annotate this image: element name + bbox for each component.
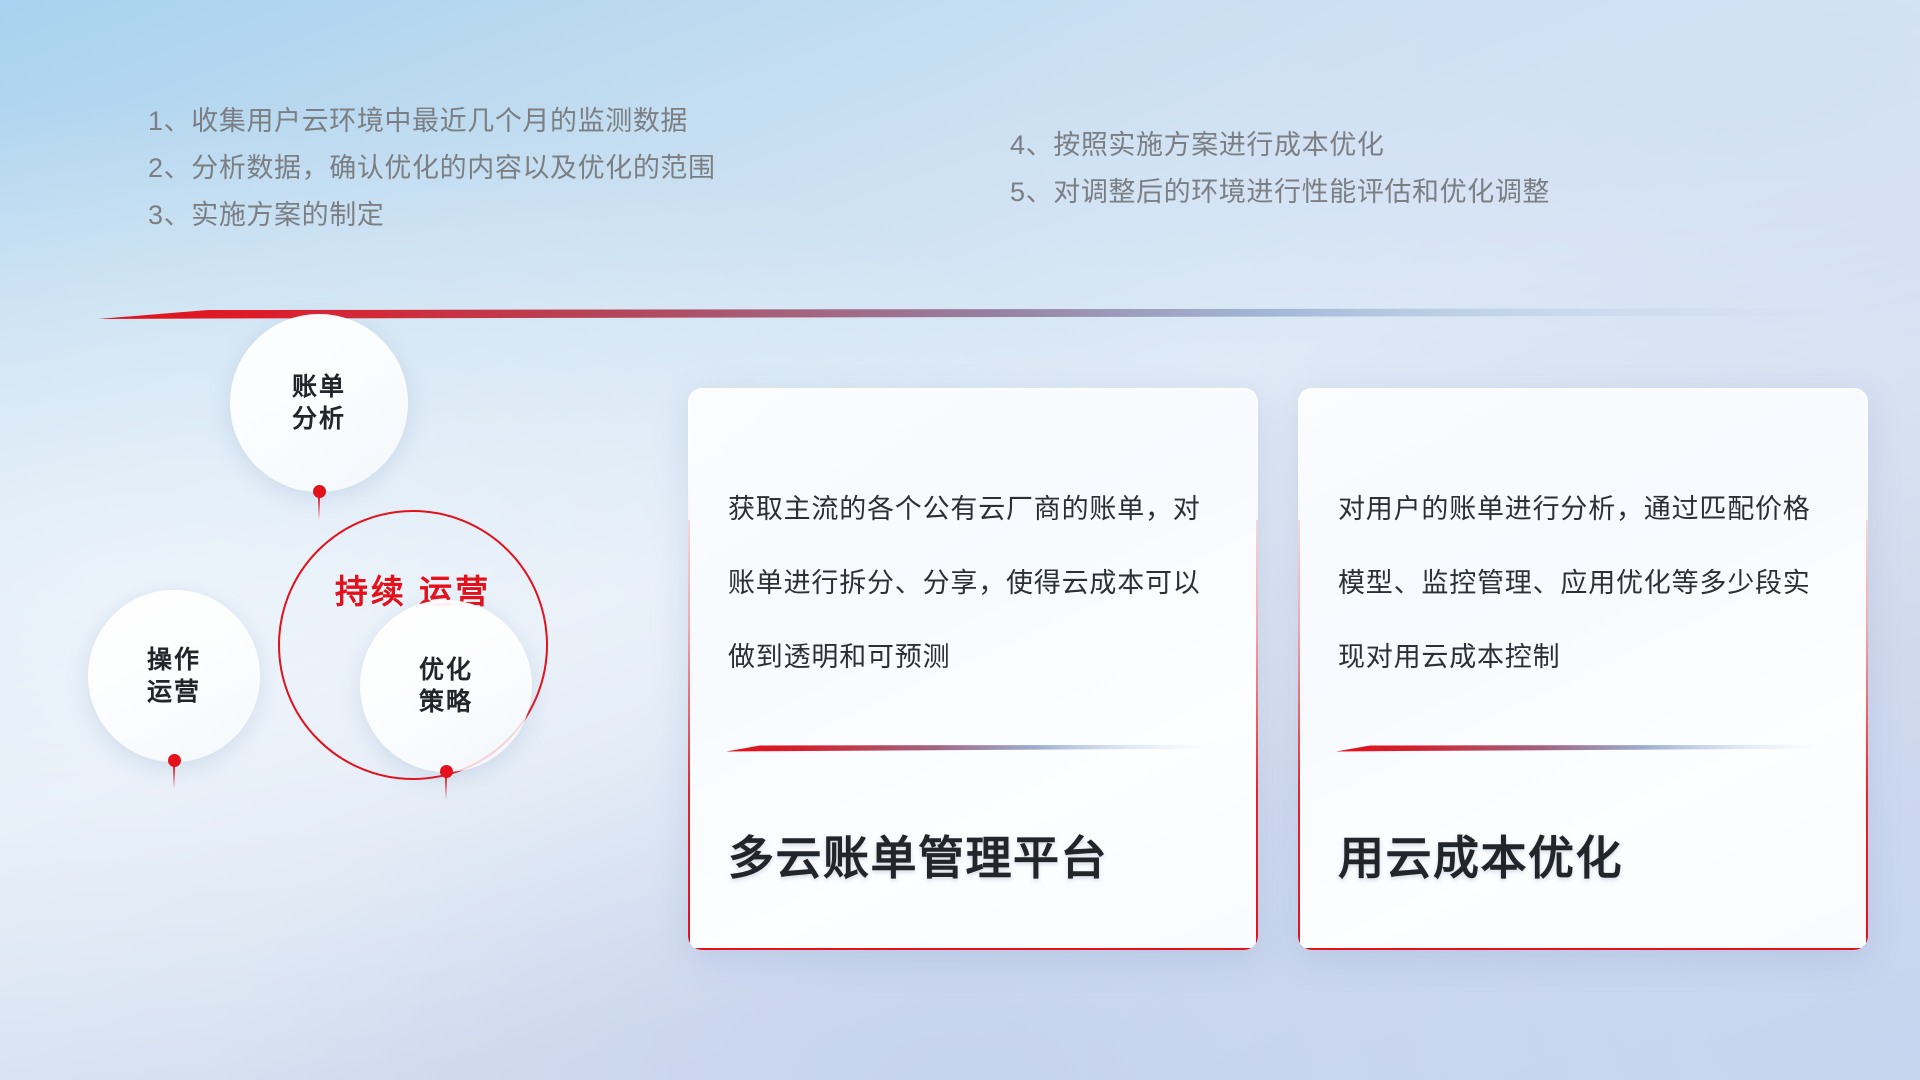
step-item: 5、对调整后的环境进行性能评估和优化调整: [1010, 169, 1550, 216]
feature-card-cloud-cost-optimization[interactable]: 对用户的账单进行分析，通过匹配价格模型、监控管理、应用优化等多少段实现对用云成本…: [1298, 388, 1868, 950]
slide-canvas: 1、收集用户云环境中最近几个月的监测数据 2、分析数据，确认优化的内容以及优化的…: [0, 0, 1920, 1080]
steps-right-column: 4、按照实施方案进行成本优化 5、对调整后的环境进行性能评估和优化调整: [1010, 122, 1550, 216]
bubble-label-line1: 操作: [147, 644, 201, 677]
bubble-label-line2: 策略: [419, 686, 473, 719]
card-accent-rule: [1336, 740, 1826, 749]
divider-shape: [98, 306, 1888, 324]
card-rule-shape: [726, 744, 1216, 753]
node-dot-icon: [440, 765, 453, 778]
step-item: 3、实施方案的制定: [148, 192, 716, 239]
center-label-line1: 持续: [335, 573, 407, 610]
node-dot-icon: [168, 754, 181, 767]
bubble-label-line2: 分析: [292, 403, 346, 436]
card-rule-shape: [1336, 744, 1826, 753]
card-title: 用云成本优化: [1338, 822, 1848, 888]
step-item: 4、按照实施方案进行成本优化: [1010, 122, 1550, 169]
bubble-label-line1: 优化: [419, 654, 473, 687]
node-dot-icon: [313, 485, 326, 498]
card-description: 对用户的账单进行分析，通过匹配价格模型、监控管理、应用优化等多少段实现对用云成本…: [1338, 472, 1836, 694]
step-item: 1、收集用户云环境中最近几个月的监测数据: [148, 98, 716, 145]
bubble-label-line2: 运营: [147, 676, 201, 709]
bubble-operations[interactable]: 操作 运营: [88, 590, 260, 762]
bubble-optimization-strategy[interactable]: 优化 策略: [360, 600, 532, 772]
card-title: 多云账单管理平台: [728, 822, 1238, 888]
bubble-bill-analysis[interactable]: 账单 分析: [230, 314, 408, 492]
feature-card-multicloud-billing[interactable]: 获取主流的各个公有云厂商的账单，对账单进行拆分、分享，使得云成本可以做到透明和可…: [688, 388, 1258, 950]
card-description: 获取主流的各个公有云厂商的账单，对账单进行拆分、分享，使得云成本可以做到透明和可…: [728, 472, 1226, 694]
section-divider: [98, 306, 1888, 324]
card-accent-rule: [726, 740, 1216, 749]
bubble-label-line1: 账单: [292, 371, 346, 404]
step-item: 2、分析数据，确认优化的内容以及优化的范围: [148, 145, 716, 192]
steps-left-column: 1、收集用户云环境中最近几个月的监测数据 2、分析数据，确认优化的内容以及优化的…: [148, 98, 716, 239]
continuous-operation-diagram: 持续 运营 账单 分析 操作 运营 优化 策略: [88, 350, 648, 950]
